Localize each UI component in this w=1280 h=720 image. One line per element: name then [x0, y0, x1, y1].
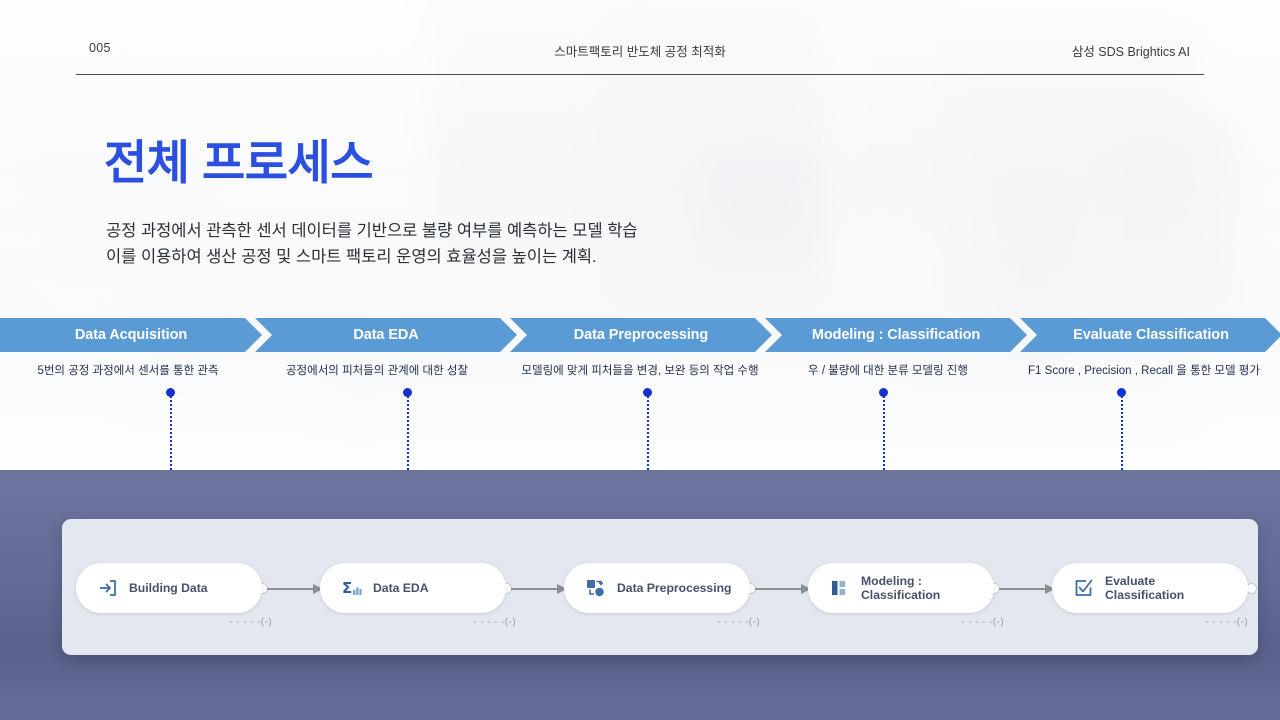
workflow-panel: Building Data - - - - -(-) Σ Data EDA - … [62, 519, 1258, 655]
workflow-node-stamp-2: - - - - -(-) [416, 617, 516, 628]
workflow-node-evaluate-classification[interactable]: Evaluate Classification [1052, 563, 1248, 613]
connector-dropline-3 [647, 396, 649, 474]
process-caption-2: 공정에서의 피처들의 관계에 대한 성찰 [249, 362, 505, 378]
process-caption-4: 우 / 불량에 대한 분류 모델링 진행 [760, 362, 1016, 378]
workflow-node-data-preprocessing[interactable]: Data Preprocessing [564, 563, 750, 613]
process-step-3[interactable]: Data Preprocessing [510, 318, 772, 352]
connector-dropline-4 [883, 396, 885, 474]
process-step-2[interactable]: Data EDA [255, 318, 517, 352]
workflow-node-stamp-5: - - - - -(-) [1148, 617, 1248, 628]
workflow-node-stamp-1: - - - - -(-) [172, 617, 272, 628]
process-step-5[interactable]: Evaluate Classification [1020, 318, 1280, 352]
node-port-5 [1247, 584, 1256, 593]
workflow-node-building-data[interactable]: Building Data [76, 563, 262, 613]
workflow-node-label: Data EDA [373, 581, 429, 595]
process-caption-1: 5번의 공정 과정에서 센서를 통한 관측 [0, 362, 256, 378]
process-chevron-bar: Data Acquisition Data EDA Data Preproces… [0, 318, 1280, 352]
process-caption-3: 모델링에 맞게 피처들을 변경, 보완 등의 작업 수행 [500, 362, 780, 378]
process-step-1[interactable]: Data Acquisition [0, 318, 262, 352]
import-arrow-icon [98, 578, 118, 598]
workflow-connector-4 [999, 588, 1054, 590]
process-step-4[interactable]: Modeling : Classification [765, 318, 1027, 352]
header-brand: 삼성 SDS Brightics AI [1072, 41, 1190, 60]
workflow-node-label: Modeling : Classification [861, 574, 940, 603]
connector-dropline-1 [170, 396, 172, 474]
workflow-node-stamp-3: - - - - -(-) [660, 617, 760, 628]
workflow-connector-1 [267, 588, 322, 590]
header-divider [76, 74, 1204, 75]
workflow-node-modeling-classification[interactable]: Modeling : Classification [808, 563, 994, 613]
checkbox-check-icon [1074, 578, 1094, 598]
connector-dropline-2 [407, 396, 409, 474]
bar-blocks-icon [830, 578, 850, 598]
transform-nodes-icon [586, 578, 606, 598]
workflow-node-stamp-4: - - - - -(-) [904, 617, 1004, 628]
connector-dropline-5 [1121, 396, 1123, 474]
workflow-node-label: Data Preprocessing [617, 581, 731, 595]
page-title: 전체 프로세스 [104, 137, 373, 189]
workflow-node-label: Building Data [129, 581, 208, 595]
slide-header: 005 스마트팩토리 반도체 공정 최적화 삼성 SDS Brightics A… [76, 36, 1204, 76]
workflow-connector-2 [511, 588, 566, 590]
header-title: 스마트팩토리 반도체 공정 최적화 [76, 41, 1204, 60]
workflow-connector-3 [755, 588, 810, 590]
sigma-chart-icon: Σ [342, 578, 362, 598]
workflow-node-data-eda[interactable]: Σ Data EDA [320, 563, 506, 613]
process-caption-5: F1 Score , Precision , Recall 을 통한 모델 평가 [1008, 362, 1280, 378]
slide-root: 005 스마트팩토리 반도체 공정 최적화 삼성 SDS Brightics A… [0, 0, 1280, 720]
page-subtitle: 공정 과정에서 관측한 센서 데이터를 기반으로 불량 여부를 예측하는 모델 … [106, 219, 638, 270]
workflow-node-label: Evaluate Classification [1105, 574, 1184, 603]
svg-text:Σ: Σ [342, 579, 352, 597]
